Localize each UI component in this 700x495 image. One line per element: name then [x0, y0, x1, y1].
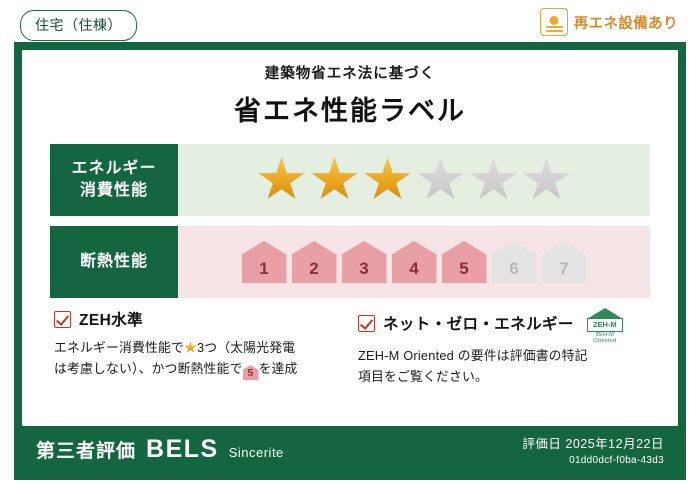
- footer-left: 第三者評価 BELS Sincerite: [22, 435, 284, 464]
- insulation-performance-row: 断熱性能 1 2 3 4 5 6 7: [50, 226, 650, 298]
- footer-right: 評価日 2025年12月22日 01dd0dcf-f0ba-43d3: [522, 433, 678, 466]
- insulation-level-7: 7: [542, 241, 587, 283]
- star-icon-5: [470, 157, 518, 203]
- bels-logo: BELS: [146, 435, 219, 464]
- house-type-badge: 住宅（住棟）: [20, 10, 137, 41]
- zeh-text-part3: を達成: [259, 361, 298, 376]
- third-party-evaluation-label: 第三者評価: [36, 436, 136, 463]
- insulation-pentagon-inline: 5: [243, 365, 259, 380]
- zeh-m-icon-caption: ZEH-M Oriented: [587, 332, 623, 344]
- performance-section: エネルギー 消費性能 断熱性能: [50, 144, 650, 298]
- energy-performance-label: 住宅（住棟） 再エネ設備あり 建築物省エネ法に基づく 省エネ性能ラベル エネルギ…: [0, 0, 700, 495]
- star-icon-4: [417, 157, 465, 203]
- evaluation-id: 01dd0dcf-f0ba-43d3: [522, 455, 664, 466]
- insulation-level-5: 5: [442, 241, 487, 283]
- insulation-level-6: 6: [492, 241, 537, 283]
- zeh-m-house-icon: ZEH-M ZEH-M Oriented: [584, 308, 630, 338]
- criteria-net-zero: ネット・ゼロ・エネルギー ZEH-M ZEH-M Oriented ZEH-M …: [350, 308, 654, 387]
- label-inner: 建築物省エネ法に基づく 省エネ性能ラベル エネルギー 消費性能: [22, 50, 678, 472]
- evaluation-date: 評価日 2025年12月22日: [522, 433, 664, 452]
- star-icon-inline: [184, 341, 197, 354]
- label-frame: 建築物省エネ法に基づく 省エネ性能ラベル エネルギー 消費性能: [14, 42, 686, 480]
- insulation-level-4: 4: [392, 241, 437, 283]
- renewable-equipment-badge: 再エネ設備あり: [540, 8, 678, 36]
- star-icon-6: [523, 157, 571, 203]
- title-subtitle: 建築物省エネ法に基づく: [22, 62, 678, 83]
- energy-performance-label-box: エネルギー 消費性能: [50, 144, 178, 216]
- renewable-equipment-text: 再エネ設備あり: [574, 12, 678, 33]
- net-zero-heading: ネット・ゼロ・エネルギー ZEH-M ZEH-M Oriented: [358, 308, 646, 338]
- insulation-level-3: 3: [342, 241, 387, 283]
- check-icon-net-zero: [358, 315, 375, 332]
- net-zero-text-line2: 項目をご覧ください。: [358, 369, 488, 384]
- energy-label-line1: エネルギー: [71, 158, 156, 180]
- top-bar: 住宅（住棟） 再エネ設備あり: [0, 0, 700, 48]
- insulation-level-2: 2: [292, 241, 337, 283]
- insulation-label: 断熱性能: [80, 251, 148, 273]
- star-icon-3: [364, 157, 412, 203]
- zeh-description: エネルギー消費性能で3つ（太陽光発電 は考慮しない）、かつ断熱性能で5を達成: [54, 337, 342, 380]
- star-icon-2: [311, 157, 359, 203]
- energy-star-rating: [178, 144, 650, 216]
- insulation-level-1: 1: [242, 241, 287, 283]
- criteria-zeh: ZEH水準 エネルギー消費性能で3つ（太陽光発電 は考慮しない）、かつ断熱性能で…: [46, 308, 350, 387]
- insulation-level-scale: 1 2 3 4 5 6 7: [178, 226, 650, 298]
- page-title: 省エネ性能ラベル: [22, 89, 678, 128]
- net-zero-title: ネット・ゼロ・エネルギー: [383, 312, 574, 334]
- criteria-section: ZEH水準 エネルギー消費性能で3つ（太陽光発電 は考慮しない）、かつ断熱性能で…: [46, 308, 654, 387]
- zeh-title: ZEH水準: [79, 308, 143, 330]
- footer-bar: 第三者評価 BELS Sincerite 評価日 2025年12月22日 01d…: [22, 426, 678, 472]
- solar-panel-icon: [540, 8, 568, 36]
- energy-label-line2: 消費性能: [80, 180, 148, 202]
- energy-performance-row: エネルギー 消費性能: [50, 144, 650, 216]
- zeh-text-stars: 3つ（太陽光発電: [197, 340, 295, 355]
- zeh-m-icon-label: ZEH-M: [587, 318, 623, 332]
- title-block: 建築物省エネ法に基づく 省エネ性能ラベル: [22, 62, 678, 128]
- net-zero-text-line1: ZEH-M Oriented の要件は評価書の特記: [358, 348, 588, 363]
- zeh-text-part2: は考慮しない）、かつ断熱性能で: [54, 361, 243, 376]
- star-icon-1: [258, 157, 306, 203]
- zeh-text-part1: エネルギー消費性能で: [54, 340, 184, 355]
- zeh-heading: ZEH水準: [54, 308, 342, 330]
- insulation-performance-label-box: 断熱性能: [50, 226, 178, 298]
- company-name: Sincerite: [229, 445, 284, 460]
- check-icon-zeh: [54, 311, 71, 328]
- net-zero-description: ZEH-M Oriented の要件は評価書の特記 項目をご覧ください。: [358, 345, 646, 387]
